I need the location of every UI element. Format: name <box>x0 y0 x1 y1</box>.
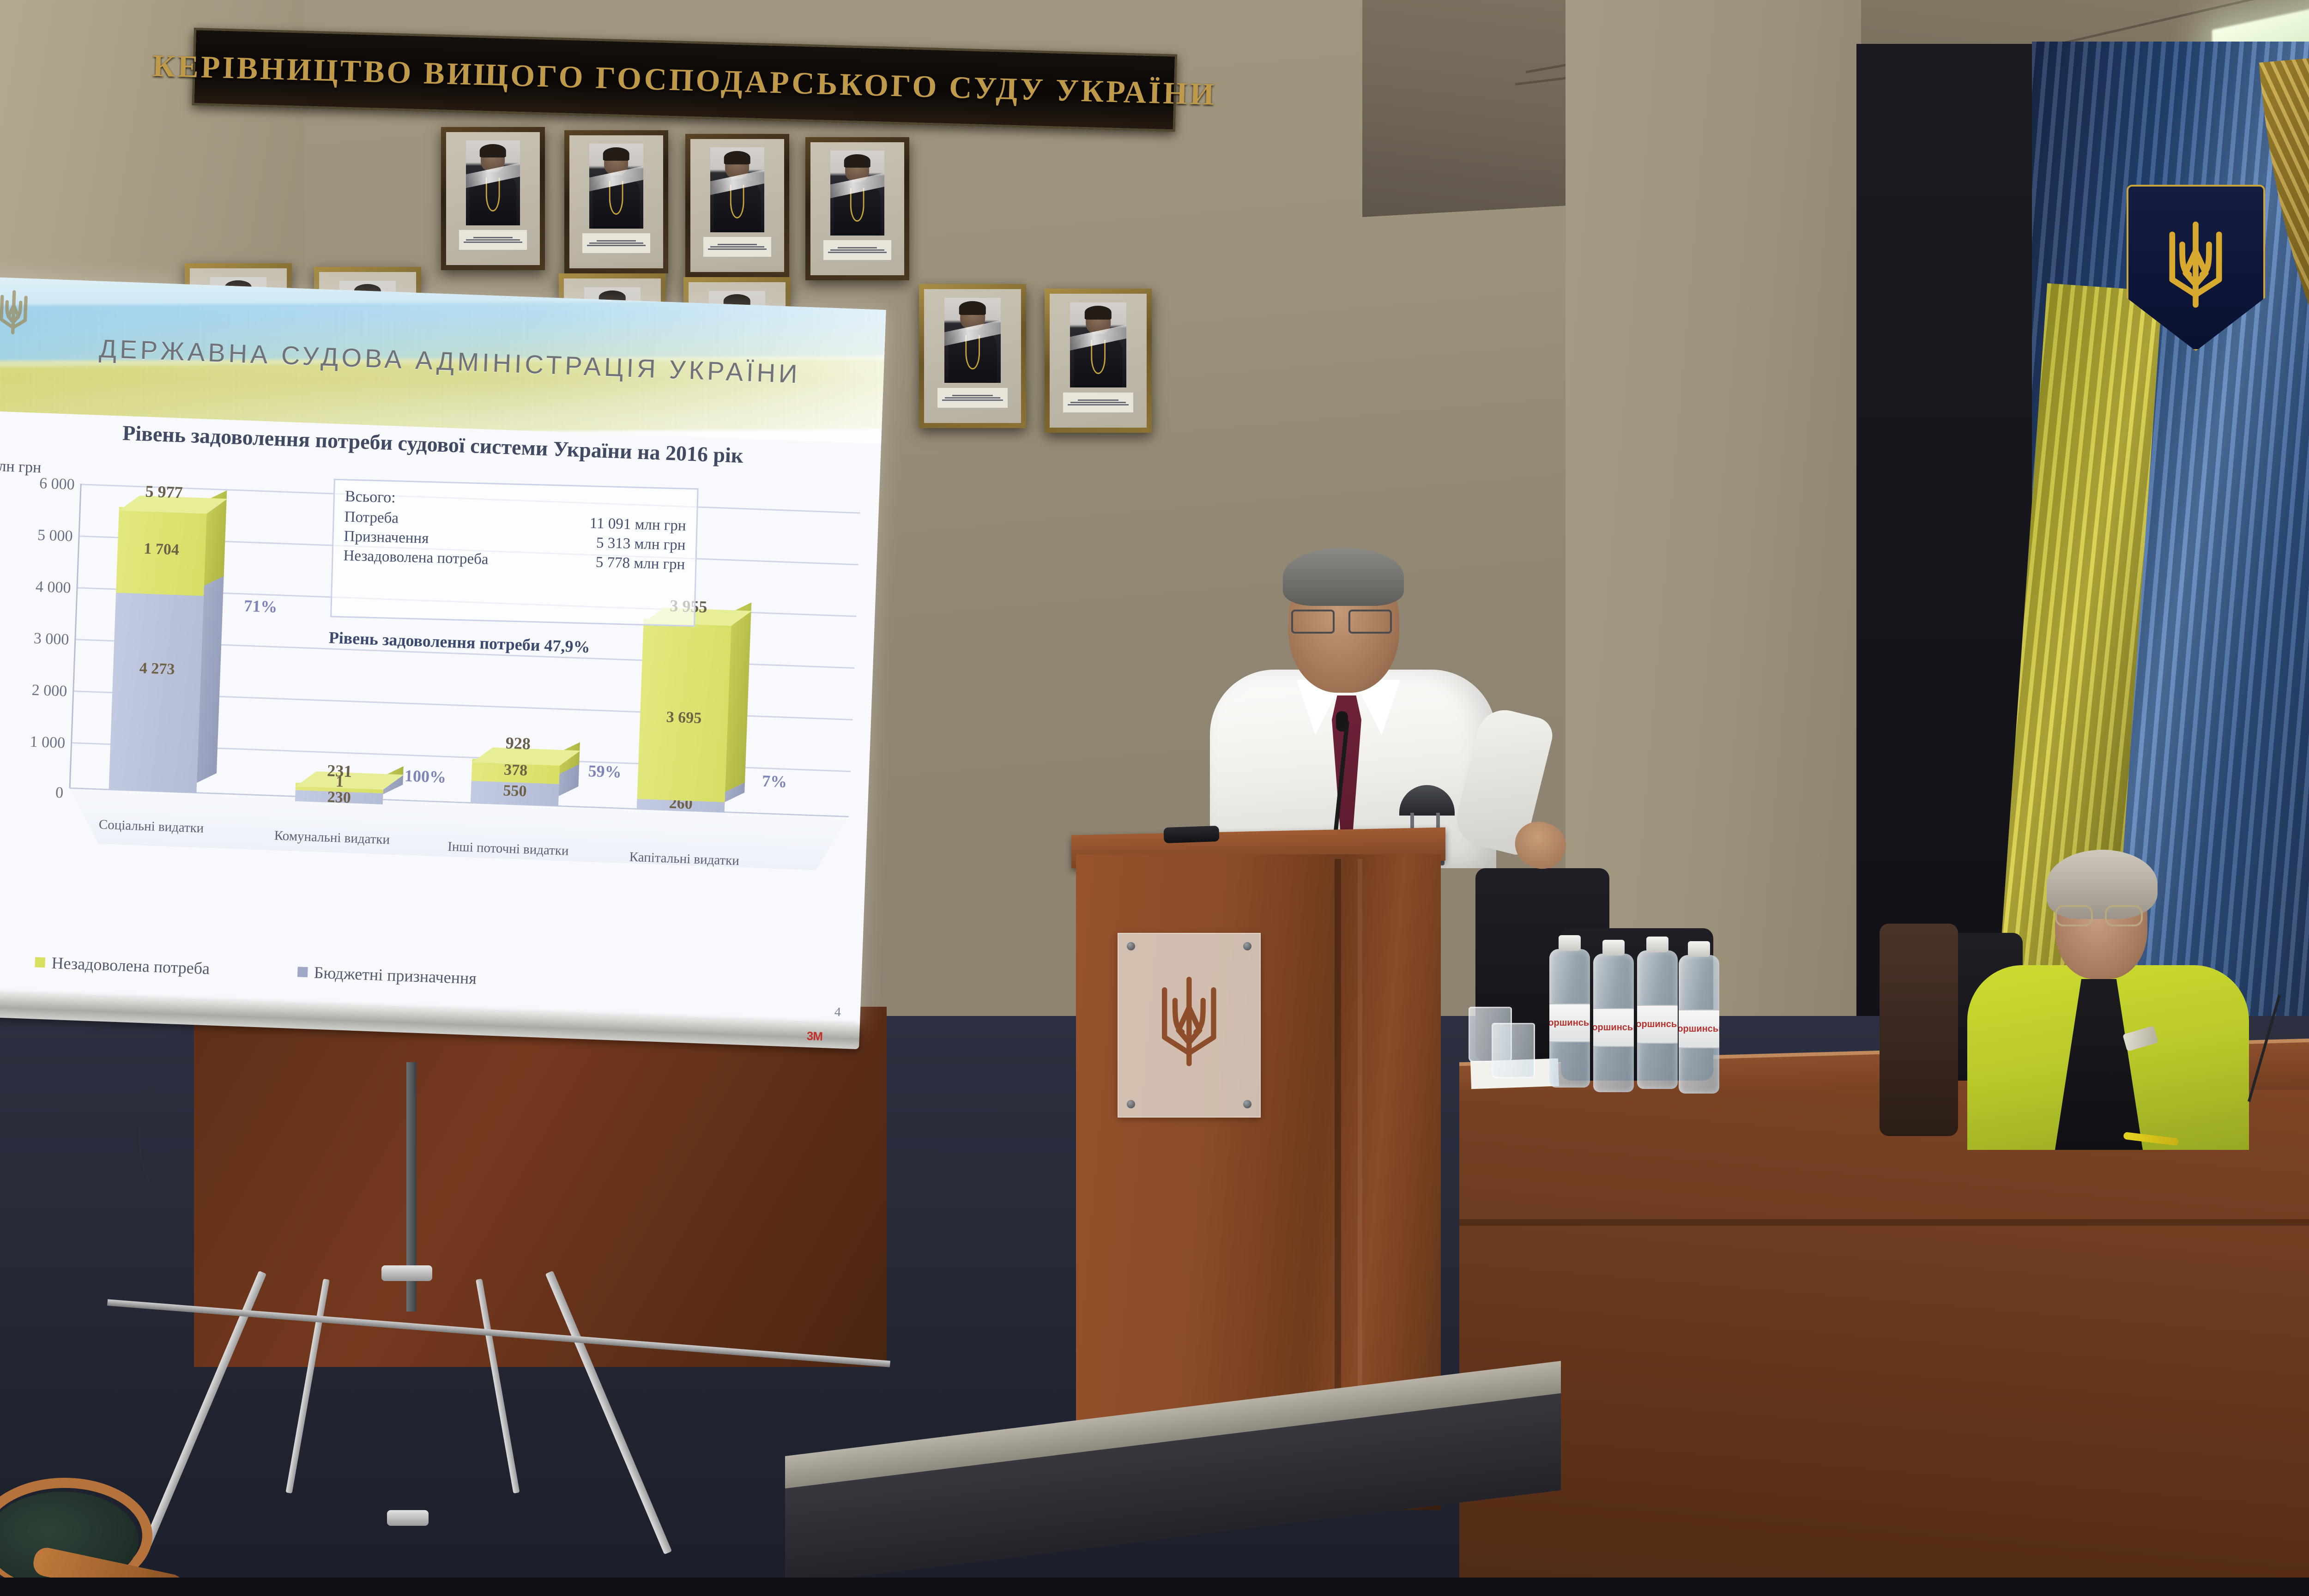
water-glass <box>1492 1023 1535 1078</box>
summary-box: Всього: Потреба 11 091 млн грн Призначен… <box>330 479 699 627</box>
bottle-label: Моршинська <box>1593 1008 1634 1047</box>
bottle-cap <box>1602 940 1625 955</box>
conference-hall-photo: КЕРІВНИЦТВО ВИЩОГО ГОСПОДАРСЬКОГО СУДУ У… <box>0 0 2309 1596</box>
bottle-label: Моршинська <box>1549 1004 1590 1042</box>
bar-segment-budget: 4 273 <box>109 589 204 793</box>
bottle-cap <box>1646 937 1668 952</box>
legend-item-unmet: Незадоволена потреба <box>35 953 210 979</box>
seated-woman-glasses <box>2055 905 2143 924</box>
bottle-label: Моршинська <box>1637 1005 1678 1044</box>
screen-brand-label: 3M <box>806 1029 822 1044</box>
bar-value-label: 1 704 <box>117 539 206 560</box>
y-tick-label: 3 000 <box>0 628 69 649</box>
legend-swatch-blue <box>297 967 308 977</box>
bar-group: 550 378 <box>471 757 560 806</box>
bottle-label-text: Моршинська <box>1679 1024 1719 1034</box>
y-tick-label: 5 000 <box>0 525 73 545</box>
chart-legend: Незадоволена потреба Бюджетні призначенн… <box>35 953 728 997</box>
wall-pillar <box>1566 0 1861 1081</box>
tripod-lower-hub <box>387 1510 429 1526</box>
projection-screen: ДЕРЖАВНА СУДОВА АДМІНІСТРАЦІЯ УКРАЇНИ Рі… <box>0 277 886 1067</box>
bottle-cap <box>1688 941 1710 957</box>
bottle-label-text: Моршинська <box>1549 1018 1590 1028</box>
bar-value-label: 4 273 <box>113 659 201 679</box>
bar-group: 4 273 1 704 <box>109 502 207 793</box>
summary-label: Призначення <box>344 527 429 549</box>
presidium-table-seam <box>1459 1219 2309 1226</box>
water-bottle: Моршинська <box>1549 949 1590 1088</box>
bar-segment-unmet: 1 704 <box>116 507 207 596</box>
portrait-frame <box>805 137 909 280</box>
bar-percent-label: 100% <box>379 765 471 788</box>
portrait-frame <box>1045 289 1152 433</box>
portrait-frame <box>685 134 789 277</box>
bar-value-label: 378 <box>471 760 560 781</box>
bar-percent-label: 71% <box>214 595 307 617</box>
bottle-label-text: Моршинська <box>1637 1019 1678 1030</box>
summary-value: 5 778 млн грн <box>595 553 685 574</box>
portrait-frame <box>441 127 545 270</box>
portrait-frame <box>564 130 668 273</box>
y-tick-label: 0 <box>0 781 64 802</box>
presidium-table-front <box>1459 1090 2309 1596</box>
y-tick-label: 6 000 <box>0 473 75 494</box>
power-cable <box>139 1076 194 1196</box>
y-tick-label: 2 000 <box>0 680 67 701</box>
summary-value: 5 313 млн грн <box>596 533 686 555</box>
wall-banner-text: КЕРІВНИЦТВО ВИЩОГО ГОСПОДАРСЬКОГО СУДУ У… <box>152 47 1217 112</box>
bottle-cap <box>1559 935 1581 951</box>
y-tick-label: 4 000 <box>0 576 71 597</box>
summary-label: Потреба <box>344 507 399 528</box>
bottle-label-text: Моршинська <box>1593 1022 1634 1033</box>
bar-segment-unmet: 378 <box>471 759 560 784</box>
wooden-chair <box>0 1422 222 1596</box>
legend-swatch-yellow <box>35 957 45 968</box>
podium-emblem-plate <box>1118 933 1261 1118</box>
summary-value: 11 091 млн грн <box>589 514 686 536</box>
summary-label: Незадоволена потреба <box>343 546 489 569</box>
legend-item-budget: Бюджетні призначення <box>297 962 477 988</box>
projected-slide: ДЕРЖАВНА СУДОВА АДМІНІСТРАЦІЯ УКРАЇНИ Рі… <box>0 277 886 1028</box>
podium-microphone-head <box>1336 711 1348 731</box>
bar-value-label: 3 695 <box>640 707 728 728</box>
presenter-remote[interactable] <box>1163 826 1219 843</box>
slide-number: 4 <box>834 1005 841 1020</box>
bar-value-label: 550 <box>471 781 559 802</box>
water-bottle: Моршинська <box>1679 955 1719 1094</box>
chart-canvas: млн грн 6 000 5 000 4 000 3 000 2 000 1 … <box>0 453 880 1028</box>
photo-bottom-edge <box>0 1578 2309 1596</box>
speaker-glasses <box>1289 610 1394 631</box>
portrait-frame <box>919 284 1026 428</box>
speaker-at-podium <box>1173 545 1533 868</box>
bar-total-label: 928 <box>458 731 578 755</box>
bar-percent-label: 7% <box>728 770 821 792</box>
y-tick-label: 1 000 <box>0 731 66 752</box>
water-bottle: Моршинська <box>1637 950 1678 1089</box>
seated-woman <box>1916 827 2267 1150</box>
water-bottle: Моршинська <box>1593 954 1634 1092</box>
bar-group: 230 1 <box>295 783 383 801</box>
legend-label: Бюджетні призначення <box>314 963 477 988</box>
legend-label: Незадоволена потреба <box>51 953 210 979</box>
tripod-upper-hub <box>381 1265 432 1281</box>
bar-total-label: 5 977 <box>104 480 224 503</box>
bottle-label: Моршинська <box>1679 1010 1719 1048</box>
speaker-hair <box>1283 548 1404 606</box>
